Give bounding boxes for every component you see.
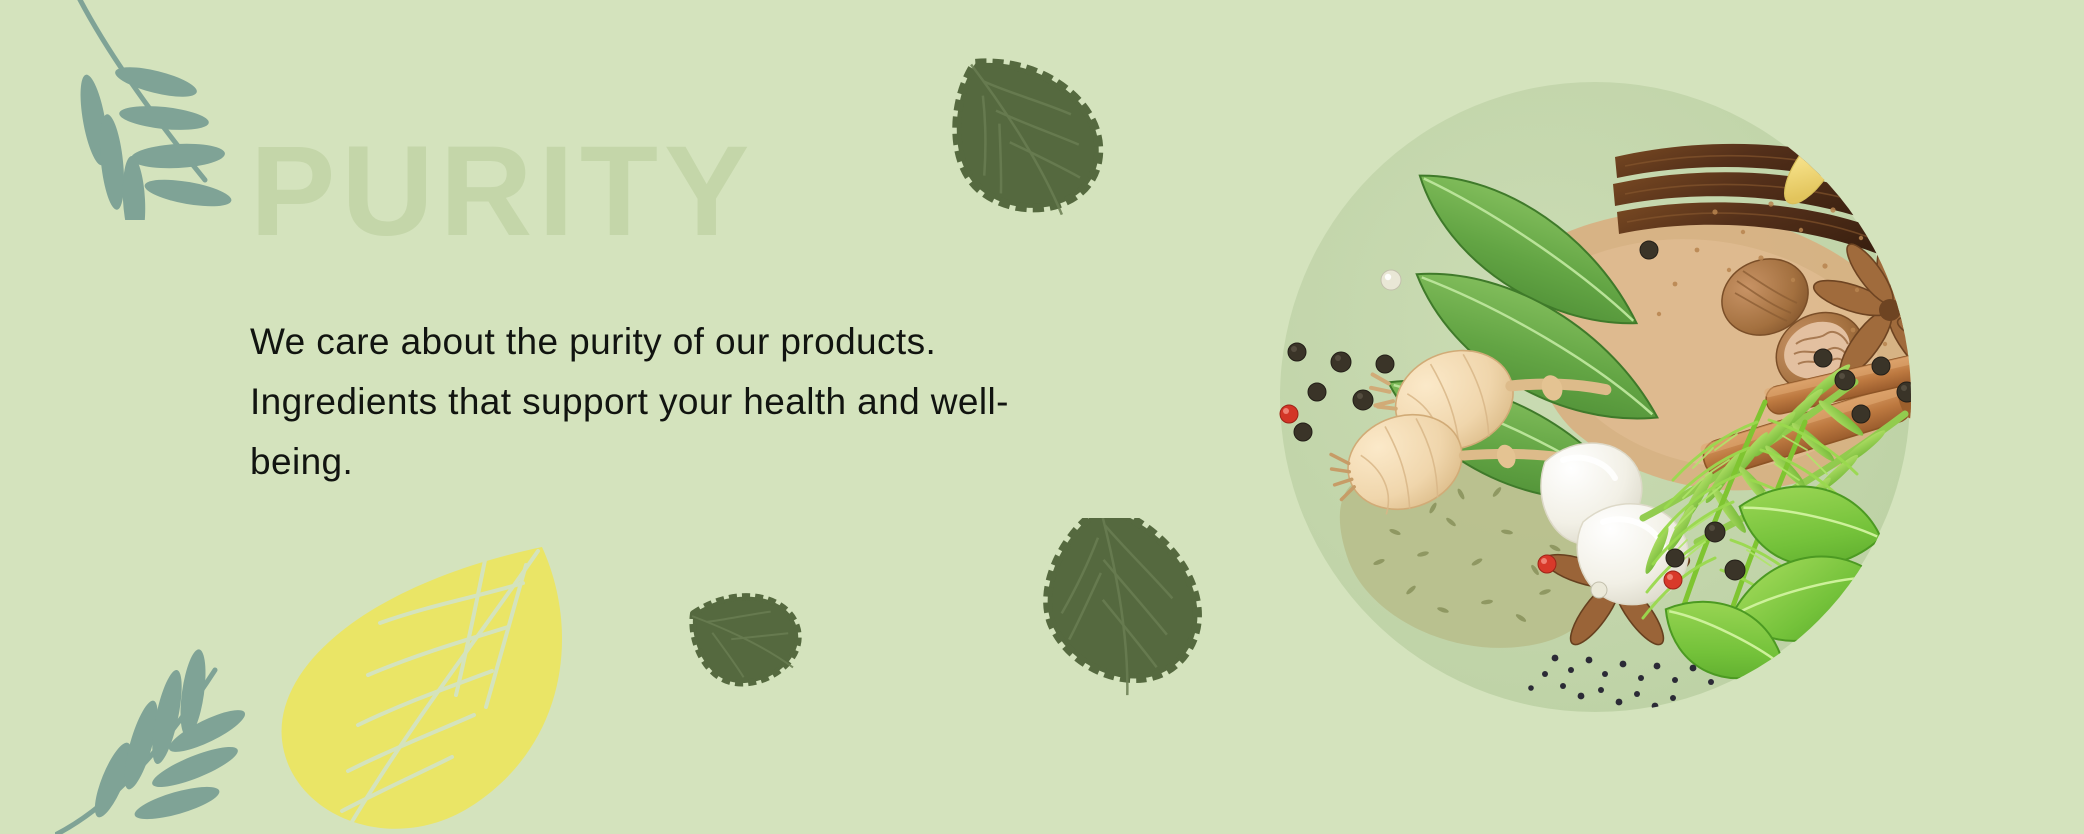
spice-illustration [1245, 62, 1945, 762]
text-block: PURITY We care about the purity of our p… [250, 128, 1150, 492]
fern-branch-top-left-icon [30, 0, 260, 220]
yellow-leaf-large-icon [280, 535, 580, 834]
spice-circle-composition [1245, 62, 1945, 762]
mint-leaf-small-center-icon [688, 582, 808, 697]
mint-leaf-right-icon [1028, 518, 1218, 698]
purity-banner: PURITY We care about the purity of our p… [0, 0, 2084, 834]
body-paragraph: We care about the purity of our products… [250, 312, 1090, 492]
basil-leaves [1649, 466, 1890, 703]
fern-branch-bottom-left-icon [55, 625, 315, 834]
page-title-watermark: PURITY [250, 128, 1150, 256]
